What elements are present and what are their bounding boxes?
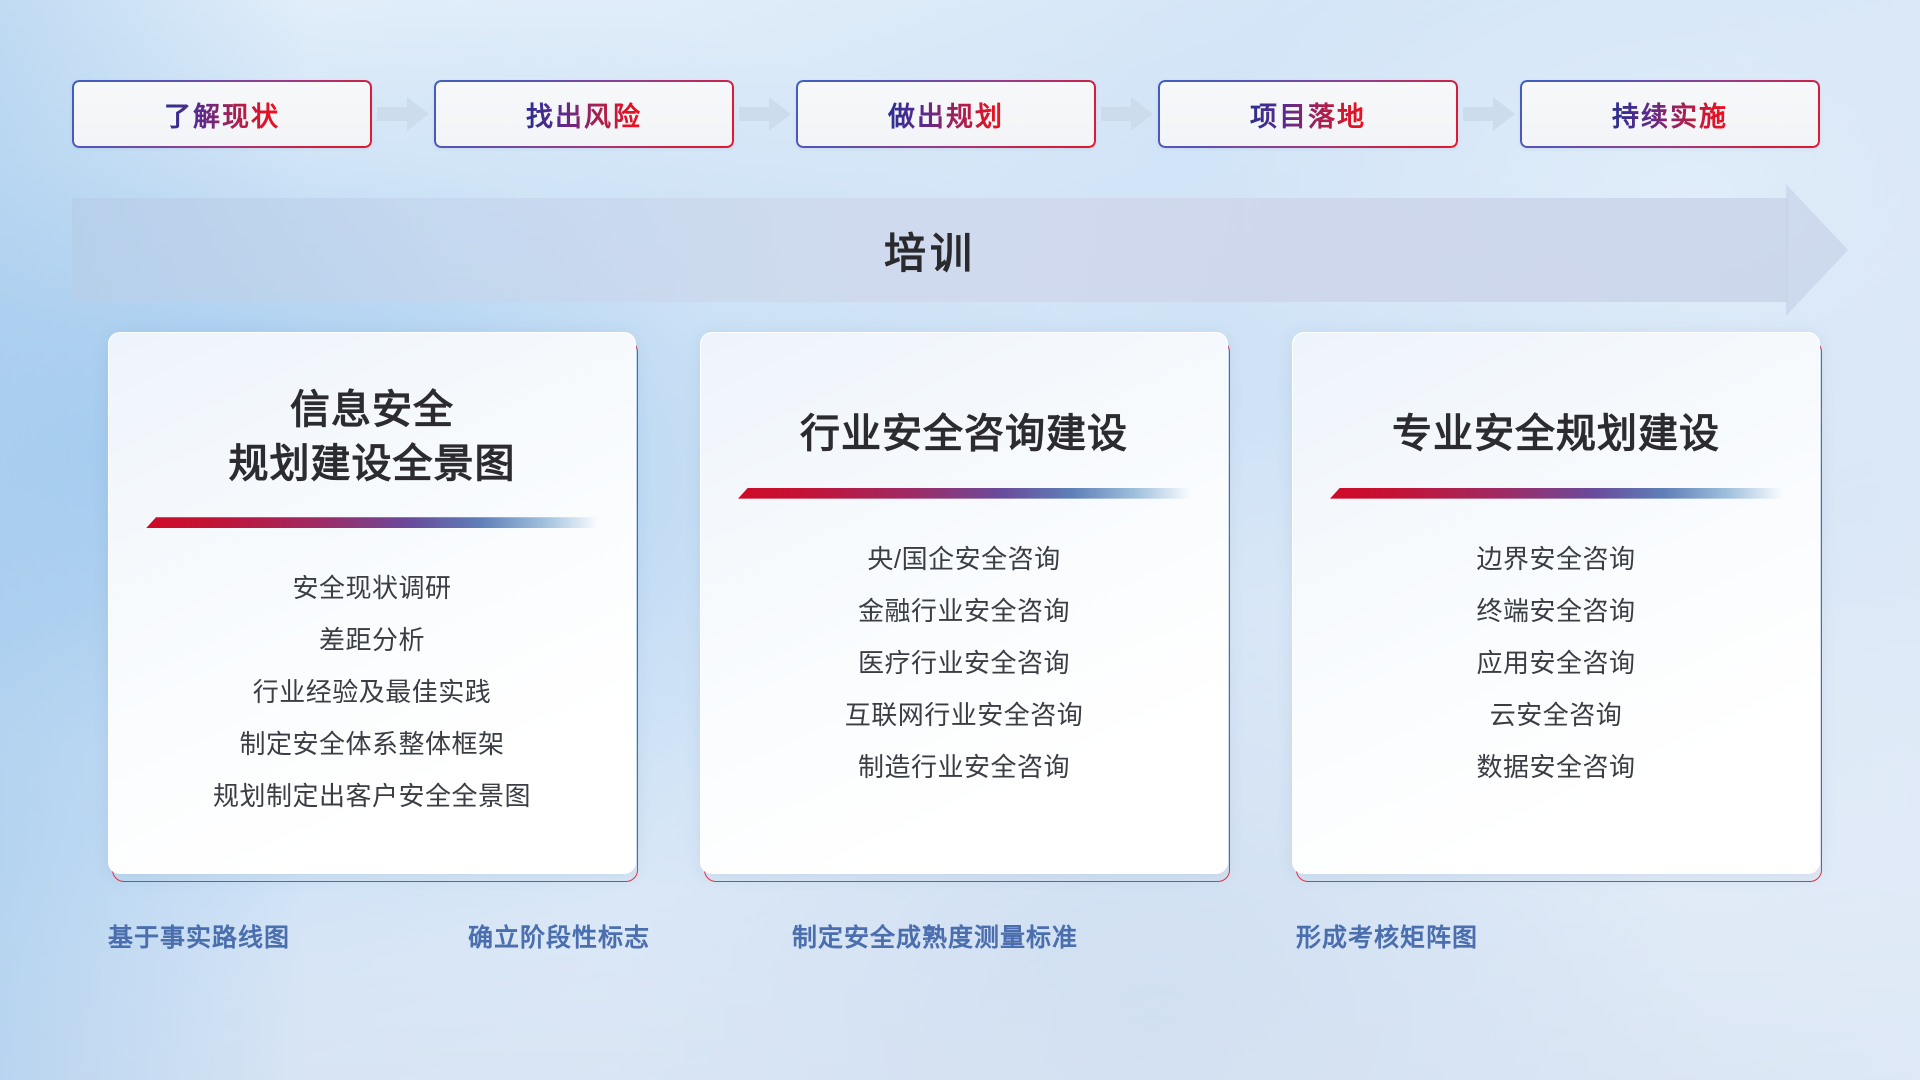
divider-bar	[738, 488, 1190, 499]
list-item: 数据安全咨询	[1312, 741, 1800, 793]
process-step-label: 做出规划	[888, 95, 1004, 134]
footer-label-maturity: 制定安全成熟度测量标准	[792, 918, 1078, 954]
list-item: 应用安全咨询	[1312, 637, 1800, 689]
list-item: 央/国企安全咨询	[720, 533, 1208, 585]
footer-label-row: 基于事实路线图 确立阶段性标志 制定安全成熟度测量标准 形成考核矩阵图	[0, 918, 1920, 966]
footer-label-milestones: 确立阶段性标志	[468, 918, 650, 954]
card-item-list: 央/国企安全咨询 金融行业安全咨询 医疗行业安全咨询 互联网行业安全咨询 制造行…	[700, 499, 1228, 793]
card-divider	[146, 517, 598, 528]
list-item: 制造行业安全咨询	[720, 741, 1208, 793]
card-title: 专业安全规划建设	[1292, 332, 1820, 462]
list-item: 互联网行业安全咨询	[720, 689, 1208, 741]
list-item: 行业经验及最佳实践	[128, 666, 616, 718]
list-item: 安全现状调研	[128, 562, 616, 614]
process-flow: 了解现状 找出风险 做出规划 项目落地 持续实施	[72, 78, 1848, 150]
card-info-security-panorama[interactable]: 信息安全 规划建设全景图 安全现状调研 差距分析 行业经验及最佳实践 制定安全体…	[108, 332, 636, 874]
divider-bar	[146, 517, 598, 528]
card-divider	[738, 488, 1190, 499]
list-item: 金融行业安全咨询	[720, 585, 1208, 637]
process-box[interactable]: 做出规划	[796, 80, 1096, 148]
chevron-right-arrow-icon	[734, 80, 796, 148]
process-step-3[interactable]: 做出规划	[796, 80, 1096, 148]
process-step-label: 了解现状	[164, 95, 280, 134]
card-item-list: 边界安全咨询 终端安全咨询 应用安全咨询 云安全咨询 数据安全咨询	[1292, 499, 1820, 793]
list-item: 制定安全体系整体框架	[128, 718, 616, 770]
footer-label-matrix: 形成考核矩阵图	[1296, 918, 1478, 954]
training-banner: 培训	[72, 198, 1848, 302]
card-wrapper-3: 专业安全规划建设 边界安全咨询 终端安全咨询 应用安全咨询 云安全咨询 数据安全…	[1292, 332, 1820, 880]
process-step-1[interactable]: 了解现状	[72, 80, 372, 148]
card-item-list: 安全现状调研 差距分析 行业经验及最佳实践 制定安全体系整体框架 规划制定出客户…	[108, 528, 636, 822]
process-step-label: 持续实施	[1612, 95, 1728, 134]
list-item: 规划制定出客户安全全景图	[128, 770, 616, 822]
chevron-right-arrow-icon	[1458, 80, 1520, 148]
card-title: 信息安全 规划建设全景图	[108, 332, 636, 491]
card-title: 行业安全咨询建设	[700, 332, 1228, 462]
list-item: 边界安全咨询	[1312, 533, 1800, 585]
list-item: 差距分析	[128, 614, 616, 666]
chevron-right-arrow-icon	[1096, 80, 1158, 148]
list-item: 医疗行业安全咨询	[720, 637, 1208, 689]
banner-title: 培训	[72, 198, 1788, 302]
footer-label-roadmap: 基于事实路线图	[108, 918, 290, 954]
process-step-2[interactable]: 找出风险	[434, 80, 734, 148]
card-professional-security-planning[interactable]: 专业安全规划建设 边界安全咨询 终端安全咨询 应用安全咨询 云安全咨询 数据安全…	[1292, 332, 1820, 874]
chevron-right-arrow-icon	[372, 80, 434, 148]
process-box[interactable]: 项目落地	[1158, 80, 1458, 148]
list-item: 终端安全咨询	[1312, 585, 1800, 637]
divider-bar	[1330, 488, 1782, 499]
list-item: 云安全咨询	[1312, 689, 1800, 741]
card-wrapper-1: 信息安全 规划建设全景图 安全现状调研 差距分析 行业经验及最佳实践 制定安全体…	[108, 332, 636, 880]
process-step-label: 找出风险	[526, 95, 642, 134]
card-divider	[1330, 488, 1782, 499]
process-box[interactable]: 了解现状	[72, 80, 372, 148]
banner-arrow-tip-icon	[1786, 184, 1848, 316]
process-box[interactable]: 持续实施	[1520, 80, 1820, 148]
card-wrapper-2: 行业安全咨询建设 央/国企安全咨询 金融行业安全咨询 医疗行业安全咨询 互联网行…	[700, 332, 1228, 880]
process-box[interactable]: 找出风险	[434, 80, 734, 148]
process-step-5[interactable]: 持续实施	[1520, 80, 1820, 148]
process-step-4[interactable]: 项目落地	[1158, 80, 1458, 148]
process-step-label: 项目落地	[1250, 95, 1366, 134]
card-industry-security-consulting[interactable]: 行业安全咨询建设 央/国企安全咨询 金融行业安全咨询 医疗行业安全咨询 互联网行…	[700, 332, 1228, 874]
card-group: 信息安全 规划建设全景图 安全现状调研 差距分析 行业经验及最佳实践 制定安全体…	[108, 332, 1820, 880]
